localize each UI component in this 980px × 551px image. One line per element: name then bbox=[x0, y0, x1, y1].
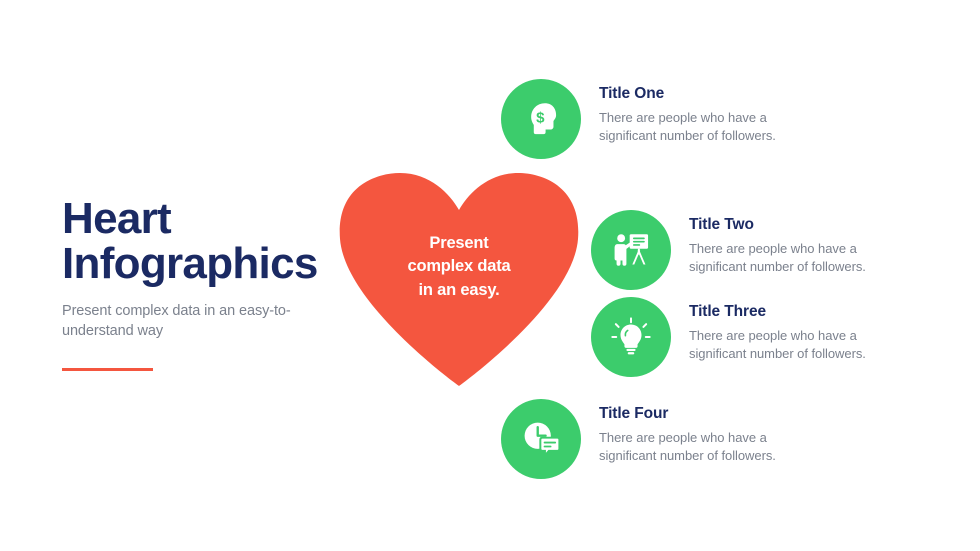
info-item-3-text: Title Three There are people who have a … bbox=[671, 297, 866, 364]
title-block: Heart Infographics Present complex data … bbox=[62, 196, 322, 371]
info-item-1-title: Title One bbox=[599, 85, 776, 104]
info-item-2[interactable]: Title Two There are people who have a si… bbox=[591, 210, 866, 290]
info-item-4[interactable]: Title Four There are people who have a s… bbox=[501, 399, 776, 479]
page-subtitle: Present complex data in an easy-to-under… bbox=[62, 301, 307, 342]
clock-message-icon bbox=[501, 399, 581, 479]
heart-text: Present complex data in an easy. bbox=[338, 232, 580, 302]
lightbulb-icon bbox=[591, 297, 671, 377]
page-title: Heart Infographics bbox=[62, 196, 322, 287]
svg-text:$: $ bbox=[536, 109, 545, 126]
info-item-2-description: There are people who have a significant … bbox=[689, 240, 866, 277]
info-item-2-title: Title Two bbox=[689, 216, 866, 235]
info-item-1-text: Title One There are people who have a si… bbox=[581, 79, 776, 146]
infographic-slide: Heart Infographics Present complex data … bbox=[0, 0, 980, 551]
heart-graphic: Present complex data in an easy. bbox=[338, 172, 580, 386]
accent-rule bbox=[62, 368, 153, 371]
info-item-2-text: Title Two There are people who have a si… bbox=[671, 210, 866, 277]
info-item-3[interactable]: Title Three There are people who have a … bbox=[591, 297, 866, 377]
presenter-board-icon bbox=[591, 210, 671, 290]
head-dollar-icon: $ bbox=[501, 79, 581, 159]
info-item-3-description: There are people who have a significant … bbox=[689, 327, 866, 364]
info-item-4-description: There are people who have a significant … bbox=[599, 429, 776, 466]
info-item-1-description: There are people who have a significant … bbox=[599, 109, 776, 146]
info-item-3-title: Title Three bbox=[689, 303, 866, 322]
info-item-4-text: Title Four There are people who have a s… bbox=[581, 399, 776, 466]
info-item-4-title: Title Four bbox=[599, 405, 776, 424]
info-item-1[interactable]: $ Title One There are people who have a … bbox=[501, 79, 776, 159]
